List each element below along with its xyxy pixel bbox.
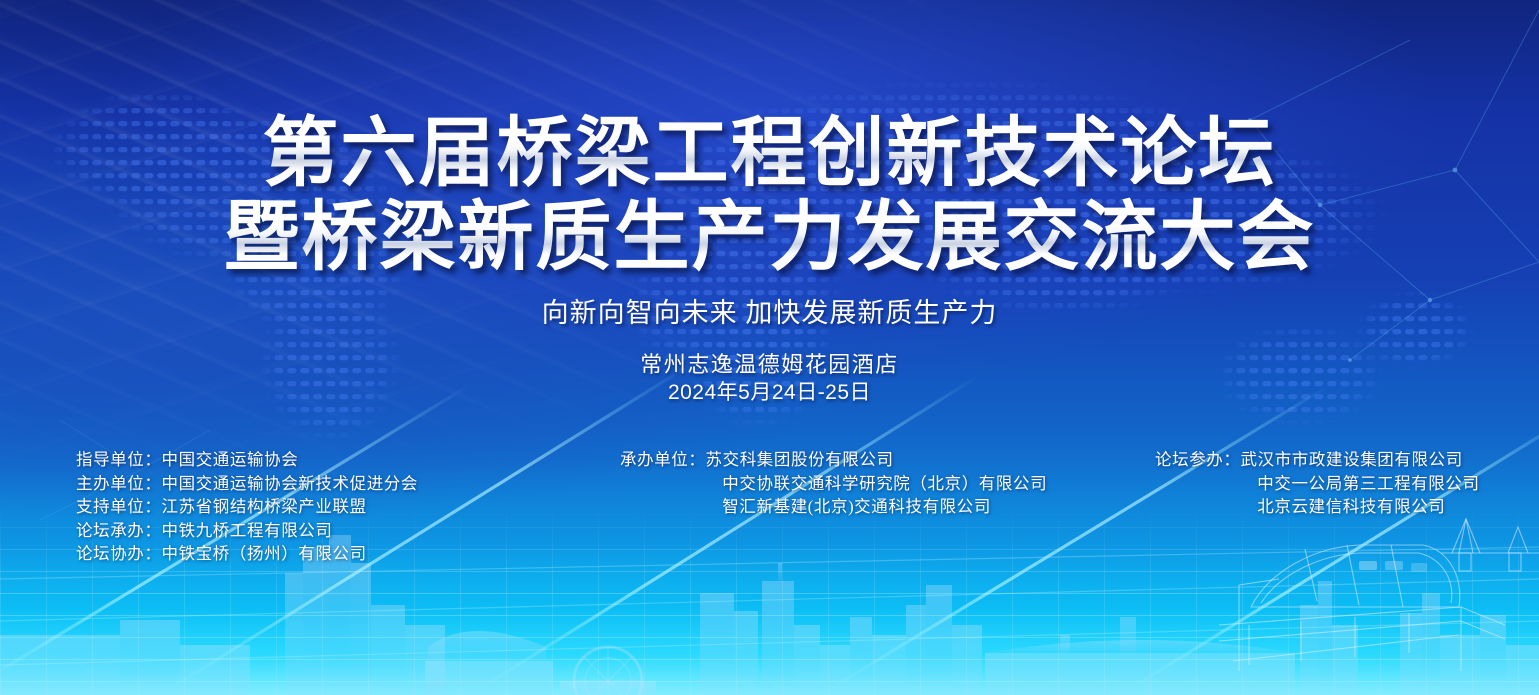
organizer-value: 中铁九桥工程有限公司 <box>162 521 333 540</box>
page-title-line-2: 暨桥梁新质生产力发展交流大会 <box>0 196 1539 280</box>
organizer-value: 江苏省钢结构桥梁产业联盟 <box>162 497 367 516</box>
organizer-value: 中国交通运输协会 <box>162 450 299 469</box>
organizer-row: 主办单位：中国交通运输协会新技术促进分会 <box>76 472 418 496</box>
organizer-row: 中交协联交通科学研究院（北京）有限公司 <box>620 472 1047 496</box>
organizer-row: 指导单位：中国交通运输协会 <box>76 448 418 472</box>
organizer-row: 承办单位：苏交科集团股份有限公司 <box>620 448 1047 472</box>
organizer-label: 论坛参办： <box>1155 448 1241 472</box>
organizer-value: 北京云建信科技有限公司 <box>1257 497 1445 516</box>
page-title-line-1: 第六届桥梁工程创新技术论坛 <box>0 112 1539 196</box>
organizer-value: 中交协联交通科学研究院（北京）有限公司 <box>722 474 1047 493</box>
organizer-label: 承办单位： <box>620 448 706 472</box>
organizer-label: 主办单位： <box>76 472 162 496</box>
organizer-label: 指导单位： <box>76 448 162 472</box>
venue-date: 2024年5月24日-25日 <box>0 379 1539 407</box>
organizer-value: 中国交通运输协会新技术促进分会 <box>162 474 419 493</box>
organizer-row: 论坛参办：武汉市市政建设集团有限公司 <box>1155 448 1480 472</box>
organizer-label: 支持单位： <box>76 495 162 519</box>
organizer-row: 支持单位：江苏省钢结构桥梁产业联盟 <box>76 495 418 519</box>
organizer-value: 智汇新基建(北京)交通科技有限公司 <box>722 497 991 516</box>
organizers-column-middle: 承办单位：苏交科集团股份有限公司 中交协联交通科学研究院（北京）有限公司 智汇新… <box>620 448 1047 519</box>
title-block: 第六届桥梁工程创新技术论坛 暨桥梁新质生产力发展交流大会 <box>0 112 1539 280</box>
organizer-row: 论坛承办：中铁九桥工程有限公司 <box>76 519 418 543</box>
organizer-row: 智汇新基建(北京)交通科技有限公司 <box>620 495 1047 519</box>
organizer-label: 论坛协办： <box>76 542 162 566</box>
organizer-row: 论坛协办：中铁宝桥（扬州）有限公司 <box>76 542 418 566</box>
organizer-value: 苏交科集团股份有限公司 <box>706 450 894 469</box>
organizer-label: 论坛承办： <box>76 519 162 543</box>
venue-name: 常州志逸温德姆花园酒店 <box>0 350 1539 379</box>
conference-banner: 第六届桥梁工程创新技术论坛 暨桥梁新质生产力发展交流大会 向新向智向未来 加快发… <box>0 0 1539 695</box>
organizer-value: 武汉市市政建设集团有限公司 <box>1241 450 1463 469</box>
organizers-column-right: 论坛参办：武汉市市政建设集团有限公司 中交一公局第三工程有限公司 北京云建信科技… <box>1155 448 1480 519</box>
organizer-value: 中铁宝桥（扬州）有限公司 <box>162 544 367 563</box>
organizer-row: 中交一公局第三工程有限公司 <box>1155 472 1480 496</box>
organizers-column-left: 指导单位：中国交通运输协会 主办单位：中国交通运输协会新技术促进分会 支持单位：… <box>76 448 418 566</box>
subtitle: 向新向智向未来 加快发展新质生产力 <box>0 296 1539 330</box>
organizer-value: 中交一公局第三工程有限公司 <box>1257 474 1479 493</box>
venue-block: 常州志逸温德姆花园酒店 2024年5月24日-25日 <box>0 350 1539 407</box>
organizer-row: 北京云建信科技有限公司 <box>1155 495 1480 519</box>
